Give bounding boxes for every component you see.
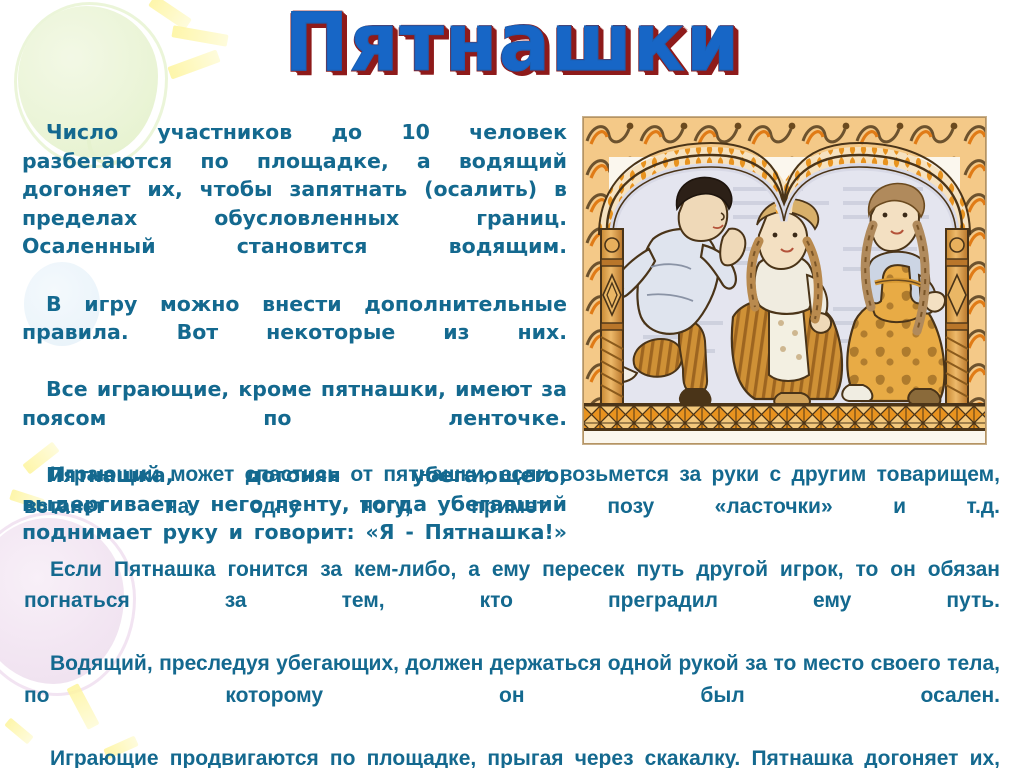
folk-illustration — [583, 117, 986, 444]
carved-column-right — [946, 229, 968, 405]
border-diamond-bottom — [583, 405, 986, 429]
paragraph: Если Пятнашка гонится за кем-либо, а ему… — [24, 554, 1000, 649]
carved-column-left — [601, 229, 623, 405]
slide-canvas: Пятнашки Число участников до 10 человек … — [0, 0, 1024, 768]
paragraph: Все играющие, кроме пятнашки, имеют за п… — [22, 375, 567, 461]
paragraph: Играющий может спастись от пятнашки, есл… — [24, 459, 1000, 554]
paragraph: В игру можно внести дополнительные прави… — [22, 290, 567, 376]
paragraph: Число участников до 10 человек разбегают… — [22, 118, 567, 290]
page-title: Пятнашки — [275, 4, 749, 84]
rules-text-block: Играющий может спастись от пятнашки, есл… — [24, 459, 1000, 768]
border-scroll-top — [583, 117, 986, 157]
title-area: Пятнашки — [0, 4, 1024, 72]
illustration-svg — [583, 117, 986, 444]
paragraph: Играющие продвигаются по площадке, прыга… — [24, 743, 1000, 768]
paragraph: Водящий, преследуя убегающих, должен дер… — [24, 648, 1000, 743]
